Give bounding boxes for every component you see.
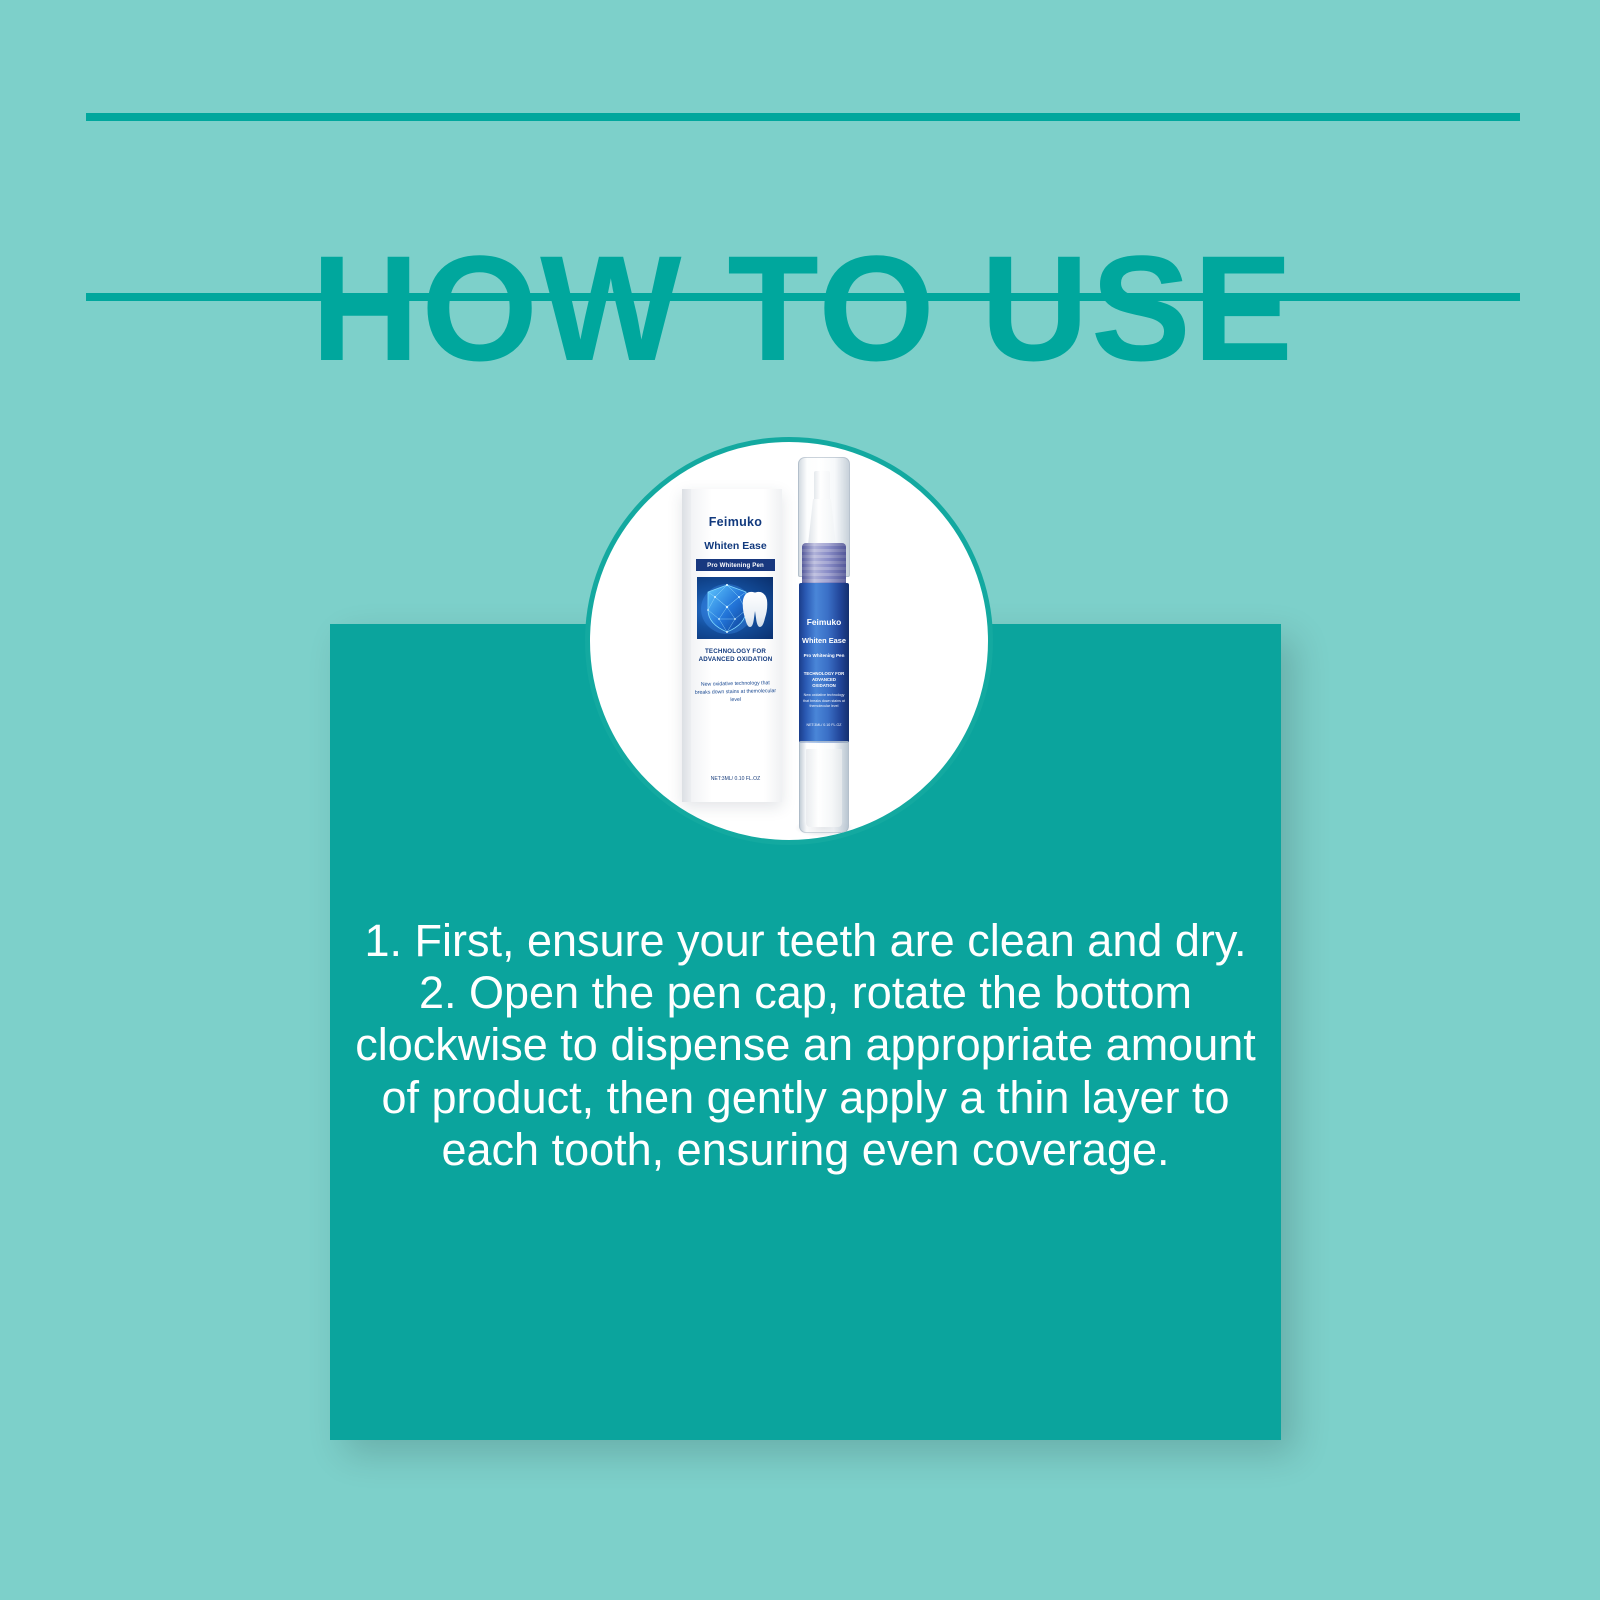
pen-technology-text: TECHNOLOGY FOR ADVANCED OXIDATION bbox=[801, 671, 847, 689]
pen-product-subtitle: Pro Whitening Pen bbox=[801, 653, 847, 659]
pen-nozzle-tip bbox=[814, 471, 830, 501]
page-title: HOW TO USE bbox=[86, 233, 1520, 383]
carton-spine bbox=[682, 489, 691, 802]
pen-base-fill bbox=[806, 749, 842, 827]
instructions-text: 1. First, ensure your teeth are clean an… bbox=[330, 915, 1281, 1176]
carton-technology-text: TECHNOLOGY FOR ADVANCED OXIDATION bbox=[693, 648, 778, 665]
pen-label-barrel: Feimuko Whiten Ease Pro Whitening Pen TE… bbox=[799, 583, 849, 743]
pen-brand-name: Feimuko bbox=[801, 617, 847, 627]
pen-collar-sheen bbox=[802, 543, 846, 587]
pen-net-contents: NET:3ML/ 0.10 FL.OZ bbox=[801, 723, 847, 727]
pen-description-text: New oxidative technology that breaks dow… bbox=[801, 693, 847, 710]
carton-net-contents: NET:3ML/ 0.10 FL.OZ bbox=[693, 777, 778, 783]
carton-brand-name: Feimuko bbox=[693, 515, 778, 529]
carton-product-badge: Pro Whitening Pen bbox=[696, 559, 775, 571]
shield-and-tooth-icon bbox=[697, 577, 773, 639]
carton-description-text: New oxidative technology that breaks dow… bbox=[693, 680, 778, 705]
pen-product-name: Whiten Ease bbox=[801, 637, 847, 646]
header-rule-top bbox=[86, 113, 1520, 121]
product-photo: Feimuko Whiten Ease Pro Whitening Pen bbox=[590, 442, 988, 840]
header-banner: HOW TO USE bbox=[86, 113, 1520, 301]
carton-product-name: Whiten Ease bbox=[693, 541, 778, 553]
header-rule-bottom bbox=[86, 293, 1520, 301]
product-image-circle: Feimuko Whiten Ease Pro Whitening Pen bbox=[585, 437, 993, 845]
product-carton: Feimuko Whiten Ease Pro Whitening Pen bbox=[682, 489, 782, 802]
product-pen: Feimuko Whiten Ease Pro Whitening Pen TE… bbox=[795, 457, 853, 834]
